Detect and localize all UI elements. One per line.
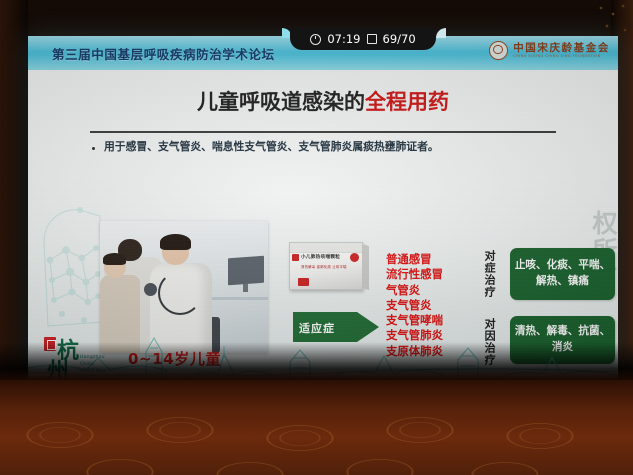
page-title-black: 儿童呼吸道感染的 <box>197 90 365 114</box>
photo-doctor-hair <box>160 234 191 250</box>
title-divider <box>90 131 556 133</box>
player-overlay[interactable]: 07:19 69/70 <box>290 28 436 50</box>
stage-shadow <box>0 342 633 380</box>
molecule-network-icon <box>40 202 106 330</box>
sponsor-name-en: CHINA SOONG CHING LING FOUNDATION <box>513 55 610 58</box>
medicine-product-subtitle: 清热解毒 宣肺化痰 止咳平喘 <box>301 264 347 269</box>
stethoscope-chestpiece-icon <box>144 283 157 296</box>
venue-floor <box>0 380 633 475</box>
elapsed-time: 07:19 <box>327 32 360 46</box>
sponsor-name: 中国宋庆龄基金会 CHINA SOONG CHING LING FOUNDATI… <box>513 43 610 59</box>
page-title-red: 全程用药 <box>365 90 449 114</box>
ceiling-lights <box>595 0 633 40</box>
page-counter: 69/70 <box>383 32 416 46</box>
photo-child-hair <box>103 253 126 265</box>
medicine-package-top <box>290 243 362 253</box>
list-item: 支气管哮喘 <box>386 313 490 328</box>
conference-photo-stage: 第三届中国基层呼吸疾病防治学术论坛 中国宋庆龄基金会 CHINA SOONG C… <box>0 0 633 475</box>
conference-title: 第三届中国基层呼吸疾病防治学术论坛 <box>52 44 275 63</box>
carpet-pattern <box>0 380 633 475</box>
sponsor-name-cn: 中国宋庆龄基金会 <box>513 43 610 54</box>
medicine-package-side <box>362 244 369 290</box>
list-item: 气管炎 <box>386 283 490 298</box>
medicine-package-mark-right <box>350 253 359 262</box>
medicine-package: 小儿肺热咳喘颗粒 清热解毒 宣肺化痰 止咳平喘 <box>289 242 363 290</box>
photo-desk <box>204 297 268 300</box>
bullet-dot-icon <box>92 147 95 150</box>
photo-monitor-stand <box>243 284 248 292</box>
treatment-box-symptomatic: 止咳、化痰、平喘、解热、镇痛 <box>510 248 615 300</box>
stethoscope-icon <box>158 271 202 315</box>
medicine-product-name: 小儿肺热咳喘颗粒 <box>301 254 340 260</box>
projection-screen: 第三届中国基层呼吸疾病防治学术论坛 中国宋庆龄基金会 CHINA SOONG C… <box>28 36 618 384</box>
soong-ching-ling-foundation-logo-icon <box>489 41 508 60</box>
sponsor-logo: 中国宋庆龄基金会 CHINA SOONG CHING LING FOUNDATI… <box>489 41 610 60</box>
medicine-package-mark-bottom <box>298 278 309 286</box>
page-icon <box>367 34 377 44</box>
photo-monitor <box>228 256 264 286</box>
page-title: 儿童呼吸道感染的全程用药 <box>28 86 618 116</box>
list-item: 支气管炎 <box>386 298 490 313</box>
overlay-notch-right <box>436 28 446 38</box>
clock-icon <box>310 34 321 45</box>
list-item: 普通感冒 <box>386 252 490 267</box>
list-item: 流行性感冒 <box>386 267 490 282</box>
medicine-package-mark-left <box>292 254 299 261</box>
treatment-label-symptomatic: 对症治疗 <box>483 250 495 298</box>
slide-body: 权所有 儿童呼吸道感染的全程用药 用于感冒、支气管炎、喘息性支气管炎、支气管肺炎… <box>28 70 618 384</box>
indication-bullet-text: 用于感冒、支气管炎、喘息性支气管炎、支气管肺炎属痰热壅肺证者。 <box>104 140 439 154</box>
indication-bullet: 用于感冒、支气管炎、喘息性支气管炎、支气管肺炎属痰热壅肺证者。 <box>92 140 592 154</box>
